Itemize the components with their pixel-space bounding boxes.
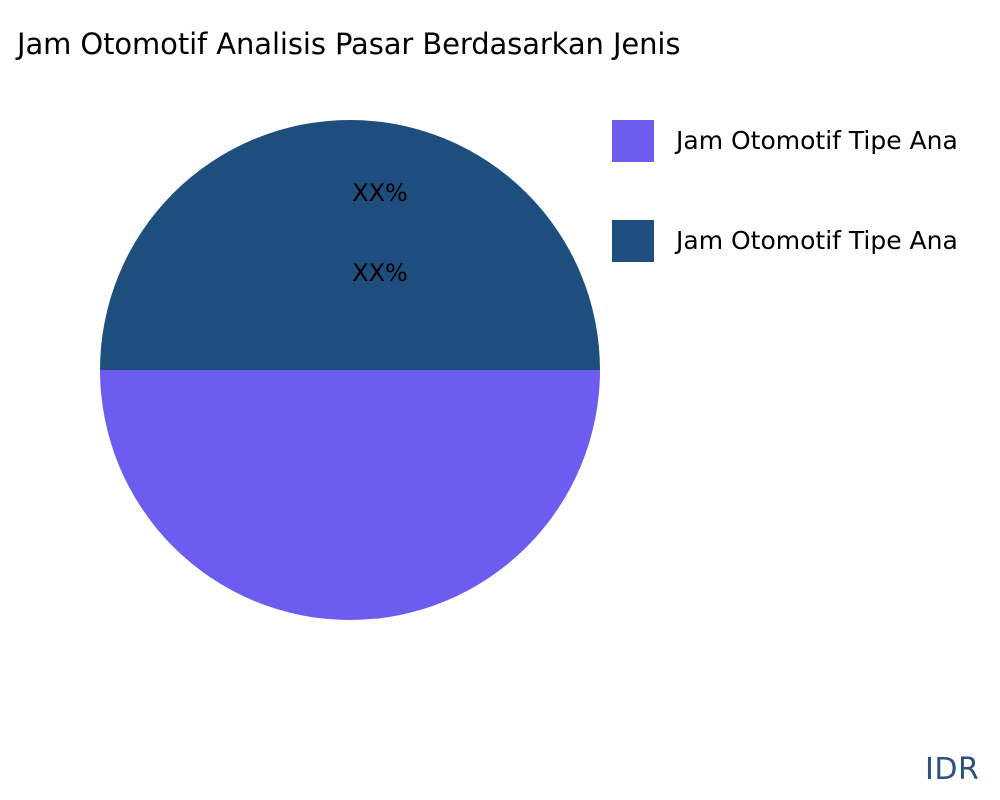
watermark-text: IDR: [925, 753, 979, 787]
pie-chart-figure: Jam Otomotif Analisis Pasar Berdasarkan …: [0, 0, 1000, 800]
chart-title: Jam Otomotif Analisis Pasar Berdasarkan …: [17, 25, 680, 63]
pie-slice-1[interactable]: [100, 120, 600, 370]
pie-slice-label-1: XX%: [352, 181, 408, 205]
legend-swatch-icon-1: [612, 220, 654, 262]
pie-slice-0[interactable]: [100, 370, 600, 620]
legend-label-0: Jam Otomotif Tipe Ana: [676, 126, 958, 156]
legend-swatch-icon-0: [612, 120, 654, 162]
legend-label-1: Jam Otomotif Tipe Ana: [676, 226, 958, 256]
pie-chart-plot-area: XX% XX%: [100, 120, 600, 620]
pie-svg: [100, 120, 600, 620]
pie-slice-label-0: XX%: [352, 261, 408, 285]
